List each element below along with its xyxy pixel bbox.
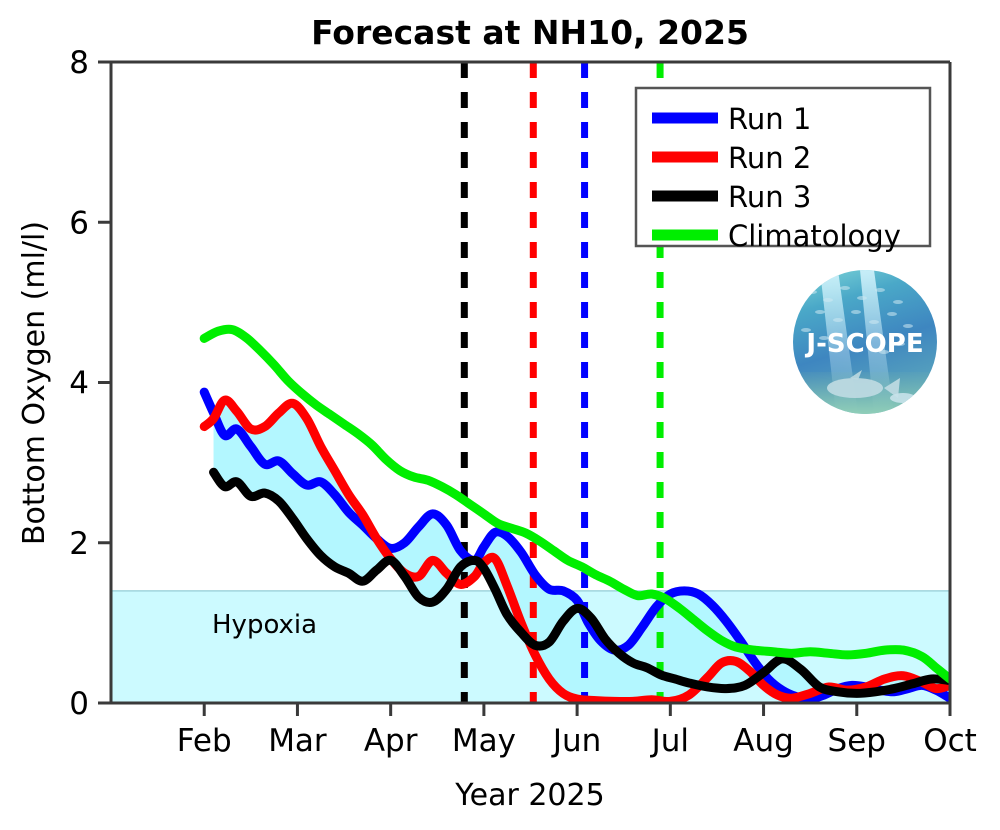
x-tick-label: Aug — [733, 723, 794, 759]
y-axis-ticks: 02468 — [69, 45, 111, 722]
forecast-line-chart: Forecast at NH10, 2025 Hypoxia 02468 Feb… — [0, 0, 1000, 830]
y-tick-label: 8 — [69, 45, 89, 81]
x-tick-label: Jun — [551, 723, 601, 759]
hypoxia-annotation-label: Hypoxia — [212, 610, 317, 640]
x-tick-label: Feb — [177, 723, 232, 759]
y-tick-label: 4 — [69, 366, 89, 402]
chart-figure: Forecast at NH10, 2025 Hypoxia 02468 Feb… — [0, 0, 1000, 830]
jscope-logo: J-SCOPE — [793, 270, 937, 414]
legend-label-climatology[interactable]: Climatology — [728, 219, 901, 253]
page-title: Forecast at NH10, 2025 — [311, 13, 749, 52]
x-tick-label: Oct — [923, 723, 977, 759]
x-tick-label: May — [452, 723, 516, 759]
x-tick-label: Sep — [828, 723, 886, 759]
x-axis-label: Year 2025 — [454, 778, 604, 813]
legend-label-run-3[interactable]: Run 3 — [728, 180, 811, 214]
y-tick-label: 2 — [69, 526, 89, 562]
legend-label-run-2[interactable]: Run 2 — [728, 141, 811, 175]
x-tick-label: Apr — [364, 723, 418, 759]
legend-label-run-1[interactable]: Run 1 — [728, 102, 811, 136]
logo-text: J-SCOPE — [804, 329, 923, 359]
y-tick-label: 6 — [69, 205, 89, 241]
y-axis-label: Bottom Oxygen (ml/l) — [17, 221, 52, 545]
y-tick-label: 0 — [69, 686, 89, 722]
chart-legend: Run 1Run 2Run 3Climatology — [636, 88, 930, 253]
x-tick-label: Mar — [268, 723, 327, 759]
x-tick-label: Jul — [650, 723, 689, 759]
x-axis-ticks: FebMarAprMayJunJulAugSepOct — [177, 703, 977, 759]
